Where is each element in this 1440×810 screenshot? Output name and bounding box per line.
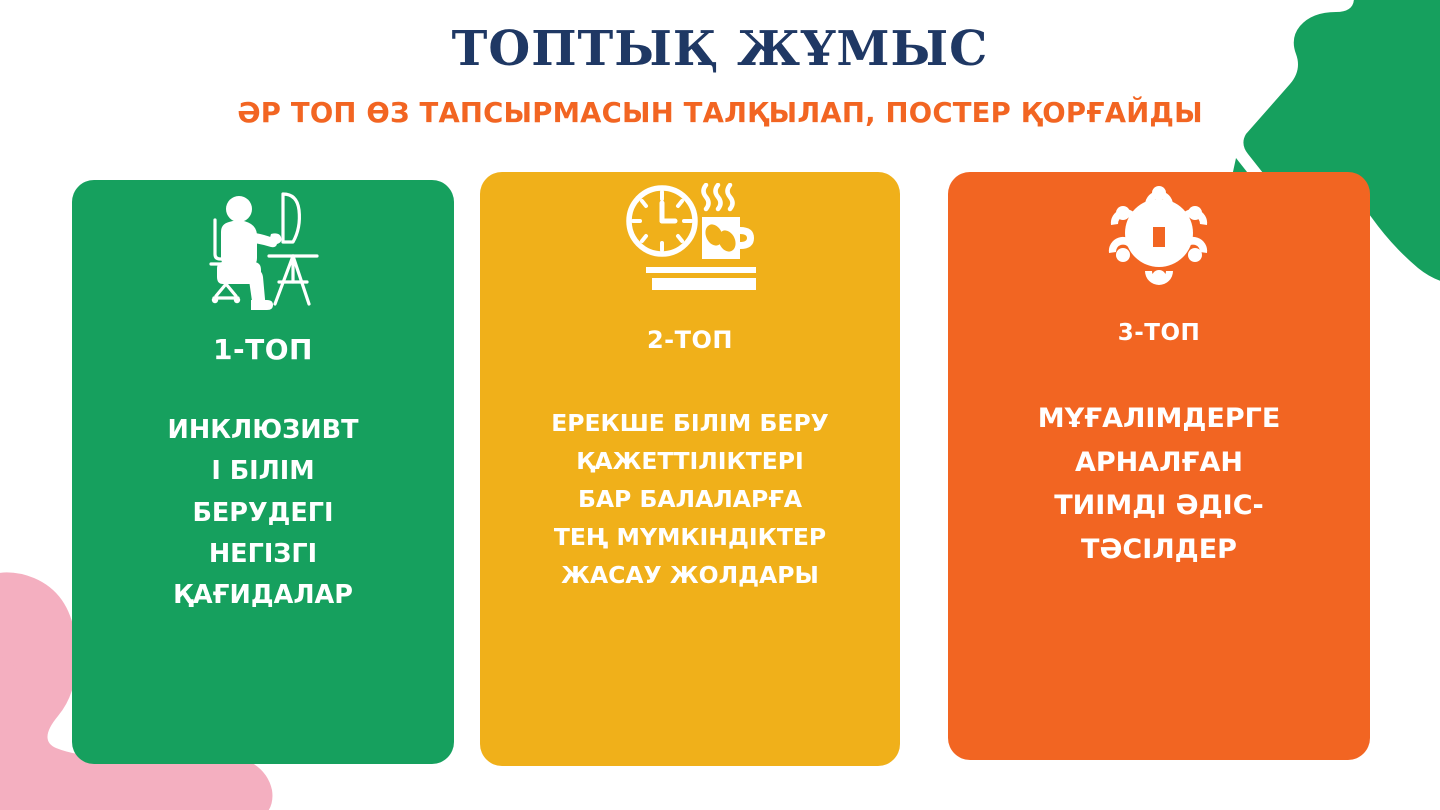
clock-and-coffee-cup-icon (610, 178, 770, 300)
card-3-label: 3-ТОП (1118, 322, 1201, 345)
card-2-line-4: ТЕҢ МҮМКІНДІКТЕР (551, 518, 829, 556)
round-table-meeting-icon (1103, 180, 1215, 298)
card-2-line-5: ЖАСАУ ЖОЛДАРЫ (551, 556, 829, 594)
group-card-1[interactable]: 1-ТОП ИНКЛЮЗИВТ І БІЛІМ БЕРУДЕГІ НЕГІЗГІ… (72, 180, 454, 764)
page-subtitle: ӘР ТОП ӨЗ ТАПСЫРМАСЫН ТАЛҚЫЛАП, ПОСТЕР Қ… (0, 98, 1440, 128)
card-1-line-3: БЕРУДЕГІ (168, 493, 359, 534)
card-3-body: МҰҒАЛІМДЕРГЕ АРНАЛҒАН ТИІМДІ ӘДІС- ТӘСІЛ… (1028, 397, 1291, 572)
card-3-line-3: ТИІМДІ ӘДІС- (1038, 484, 1281, 528)
page-title: ТОПТЫҚ ЖҰМЫС (0, 24, 1440, 74)
person-at-easel-icon (199, 190, 327, 316)
card-1-body: ИНКЛЮЗИВТ І БІЛІМ БЕРУДЕГІ НЕГІЗГІ ҚАҒИД… (158, 410, 369, 616)
card-3-line-2: АРНАЛҒАН (1038, 441, 1281, 485)
card-2-line-2: ҚАЖЕТТІЛІКТЕРІ (551, 442, 829, 480)
group-card-3[interactable]: 3-ТОП МҰҒАЛІМДЕРГЕ АРНАЛҒАН ТИІМДІ ӘДІС-… (948, 172, 1370, 760)
card-1-line-5: ҚАҒИДАЛАР (168, 575, 359, 616)
group-card-2[interactable]: 2-ТОП ЕРЕКШЕ БІЛІМ БЕРУ ҚАЖЕТТІЛІКТЕРІ Б… (480, 172, 900, 766)
card-1-line-1: ИНКЛЮЗИВТ (168, 410, 359, 451)
card-2-line-3: БАР БАЛАЛАРҒА (551, 480, 829, 518)
card-2-body: ЕРЕКШЕ БІЛІМ БЕРУ ҚАЖЕТТІЛІКТЕРІ БАР БАЛ… (541, 404, 839, 594)
card-2-label: 2-ТОП (647, 328, 733, 352)
slide-canvas: ТОПТЫҚ ЖҰМЫС ӘР ТОП ӨЗ ТАПСЫРМАСЫН ТАЛҚЫ… (0, 0, 1440, 810)
card-1-line-4: НЕГІЗГІ (168, 534, 359, 575)
card-2-line-1: ЕРЕКШЕ БІЛІМ БЕРУ (551, 404, 829, 442)
card-3-line-1: МҰҒАЛІМДЕРГЕ (1038, 397, 1281, 441)
card-1-line-2: І БІЛІМ (168, 451, 359, 492)
card-3-line-4: ТӘСІЛДЕР (1038, 528, 1281, 572)
card-1-label: 1-ТОП (213, 336, 313, 364)
